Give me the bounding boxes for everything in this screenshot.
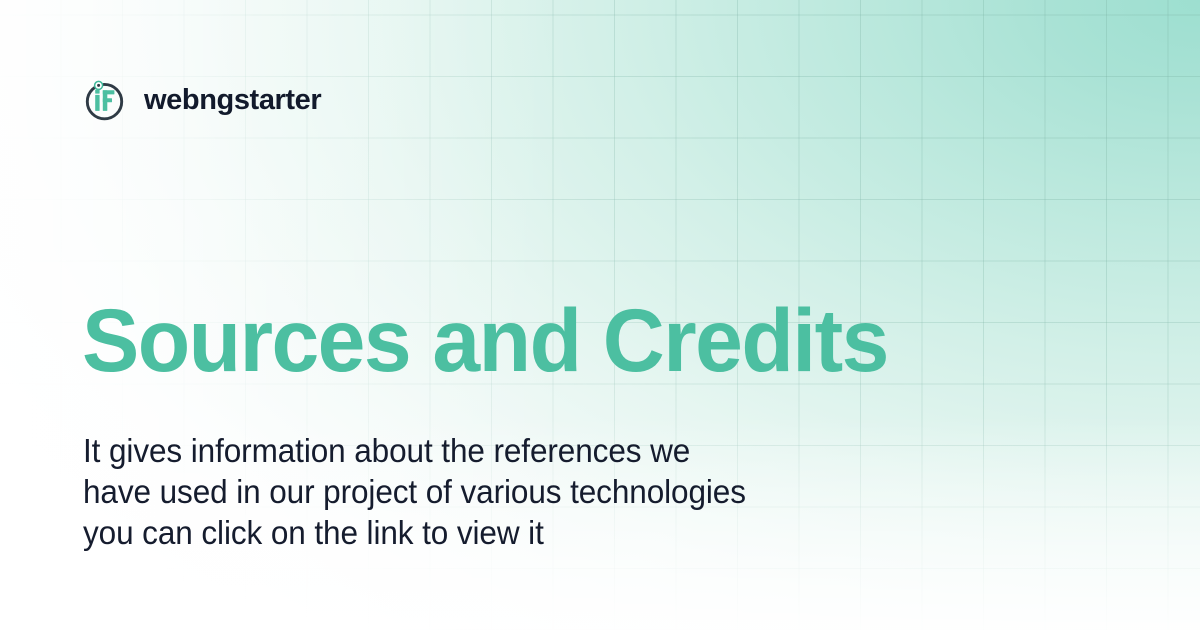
description-line: have used in our project of various tech… [83, 471, 857, 512]
card-content: webngstarter Sources and Credits It give… [0, 0, 1200, 630]
description-line: It gives information about the reference… [83, 430, 857, 471]
brand-name: webngstarter [144, 86, 321, 115]
social-card-canvas: webngstarter Sources and Credits It give… [0, 0, 1200, 630]
if-circle-logo-icon [82, 78, 127, 123]
brand-lockup[interactable]: webngstarter [82, 78, 321, 123]
page-description: It gives information about the reference… [83, 430, 857, 553]
page-title: Sources and Credits [82, 296, 888, 385]
description-line: you can click on the link to view it [83, 512, 857, 553]
